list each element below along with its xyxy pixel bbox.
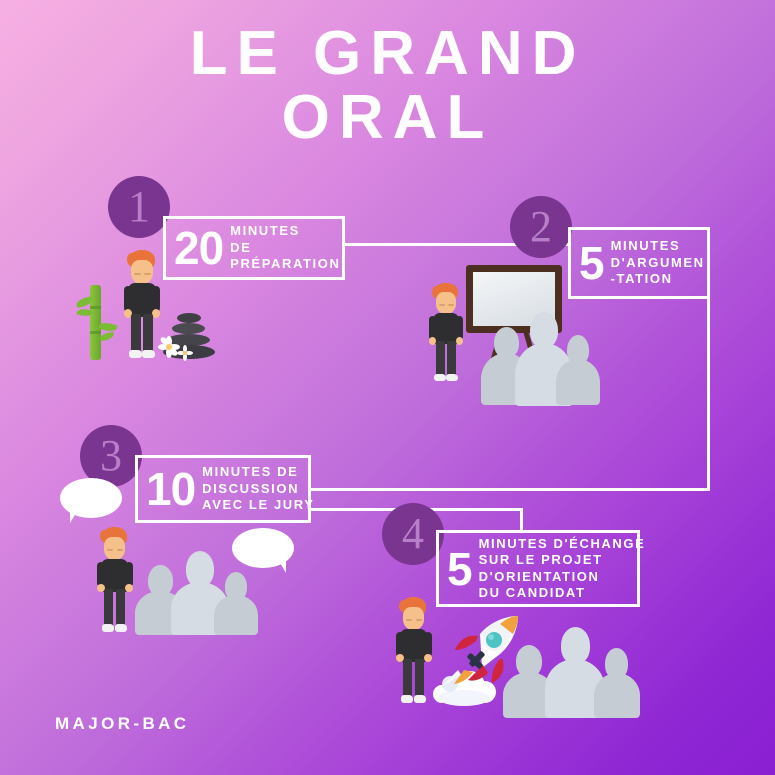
jury-silhouette-right-3: [214, 572, 258, 635]
step-3-label: MINUTES DE DISCUSSION AVEC LE JURY: [202, 464, 314, 514]
step-2-label-line-1: MINUTES: [611, 238, 705, 255]
leg-right: [116, 589, 125, 626]
step-1-label-line-1: MINUTES: [230, 223, 340, 240]
step-2-label-line-2: D'ARGUMEN: [611, 255, 705, 272]
leg-left: [436, 341, 445, 376]
torso: [101, 559, 128, 592]
infographic-canvas: LE GRAND ORAL 1: [0, 0, 775, 775]
connector-step2-to-step3: [309, 488, 710, 491]
step-4-label-line-2: SUR LE PROJET: [479, 552, 646, 569]
bamboo-leaf: [99, 332, 114, 341]
jury-silhouette-right-2: [556, 335, 600, 405]
eyebrow-right: [117, 549, 123, 551]
step-badge-1-number: 1: [128, 185, 150, 229]
eyebrow-left: [439, 304, 445, 306]
leg-left: [131, 314, 141, 352]
hand-right: [456, 337, 463, 345]
silhouette-shoulders: [214, 595, 258, 635]
page-title: LE GRAND ORAL: [0, 22, 775, 150]
step-badge-1: 1: [108, 176, 170, 238]
face: [131, 260, 153, 284]
step-1-label-line-3: PRÉPARATION: [230, 256, 340, 273]
eyebrow-right: [448, 304, 454, 306]
hand-left: [429, 337, 436, 345]
step-1-duration: 20: [174, 226, 223, 270]
bamboo-joint: [90, 306, 101, 309]
silhouette-shoulders: [556, 359, 600, 405]
title-line-1: LE GRAND: [190, 19, 586, 88]
person-step-3: [92, 527, 138, 633]
connector-step2-vertical: [707, 299, 710, 491]
step-4-duration: 5: [447, 547, 472, 591]
step-4-label-line-3: D'ORIENTATION: [479, 569, 646, 586]
step-box-4: 5 MINUTES D'ÉCHANGE SUR LE PROJET D'ORIE…: [436, 530, 640, 607]
eyebrow-right: [144, 273, 151, 275]
step-4-label-line-1: MINUTES D'ÉCHANGE: [479, 536, 646, 553]
step-2-label: MINUTES D'ARGUMEN -TATION: [611, 238, 705, 288]
bamboo-plant: [76, 285, 120, 360]
leg-right: [415, 659, 424, 697]
shoe-right: [414, 695, 426, 703]
connector-step3-to-step4-vertical: [520, 508, 523, 532]
flower-core: [166, 344, 172, 350]
hand-right: [152, 309, 160, 318]
step-badge-4-number: 4: [402, 512, 424, 556]
stone-top: [177, 313, 201, 323]
bamboo-joint: [90, 331, 101, 334]
step-badge-3-number: 3: [100, 434, 122, 478]
speech-bubble-tail: [272, 558, 286, 573]
shoe-right: [446, 374, 458, 381]
title-line-2: ORAL: [0, 86, 775, 150]
step-3-label-line-2: DISCUSSION: [202, 481, 314, 498]
flower-small: [177, 345, 193, 361]
step-box-2: 5 MINUTES D'ARGUMEN -TATION: [568, 227, 710, 299]
step-box-3: 10 MINUTES DE DISCUSSION AVEC LE JURY: [135, 455, 311, 523]
step-2-duration: 5: [579, 241, 604, 285]
bamboo-leaf: [98, 321, 118, 334]
leg-left: [104, 589, 113, 626]
step-badge-2-number: 2: [530, 205, 552, 249]
step-3-duration: 10: [146, 467, 195, 511]
leg-right: [143, 314, 153, 352]
step-badge-4: 4: [382, 503, 444, 565]
flower-core: [183, 351, 187, 355]
eyebrow-left: [134, 273, 141, 275]
speech-bubble-left: [60, 478, 122, 524]
step-3-label-line-1: MINUTES DE: [202, 464, 314, 481]
step-badge-2: 2: [510, 196, 572, 258]
jury-silhouette-right-4: [594, 648, 640, 718]
eyebrow-left: [107, 549, 113, 551]
shoe-left: [401, 695, 413, 703]
step-4-label: MINUTES D'ÉCHANGE SUR LE PROJET D'ORIENT…: [479, 536, 646, 602]
shoe-left: [434, 374, 446, 381]
silhouette-shoulders: [594, 673, 640, 718]
step-1-label: MINUTES DE PRÉPARATION: [230, 223, 340, 273]
brand-footer: MAJOR-BAC: [55, 714, 189, 734]
step-3-label-line-3: AVEC LE JURY: [202, 497, 314, 514]
speech-bubble-tail: [70, 508, 84, 523]
shoe-left: [129, 350, 142, 358]
shoe-left: [102, 624, 114, 632]
leg-left: [403, 659, 412, 697]
step-box-1: 20 MINUTES DE PRÉPARATION: [163, 216, 345, 280]
hand-right: [125, 584, 133, 592]
step-2-label-line-3: -TATION: [611, 271, 705, 288]
eyebrow-right: [416, 619, 422, 621]
face: [436, 292, 456, 314]
shoe-right: [115, 624, 127, 632]
stone-2: [172, 323, 205, 334]
step-1-label-line-2: DE: [230, 240, 340, 257]
leg-right: [447, 341, 456, 376]
step-4-label-line-4: DU CANDIDAT: [479, 585, 646, 602]
person-step-2: [424, 283, 468, 383]
speech-bubble-right: [232, 528, 294, 576]
torso: [400, 629, 427, 662]
eyebrow-left: [406, 619, 412, 621]
shoe-right: [142, 350, 155, 358]
